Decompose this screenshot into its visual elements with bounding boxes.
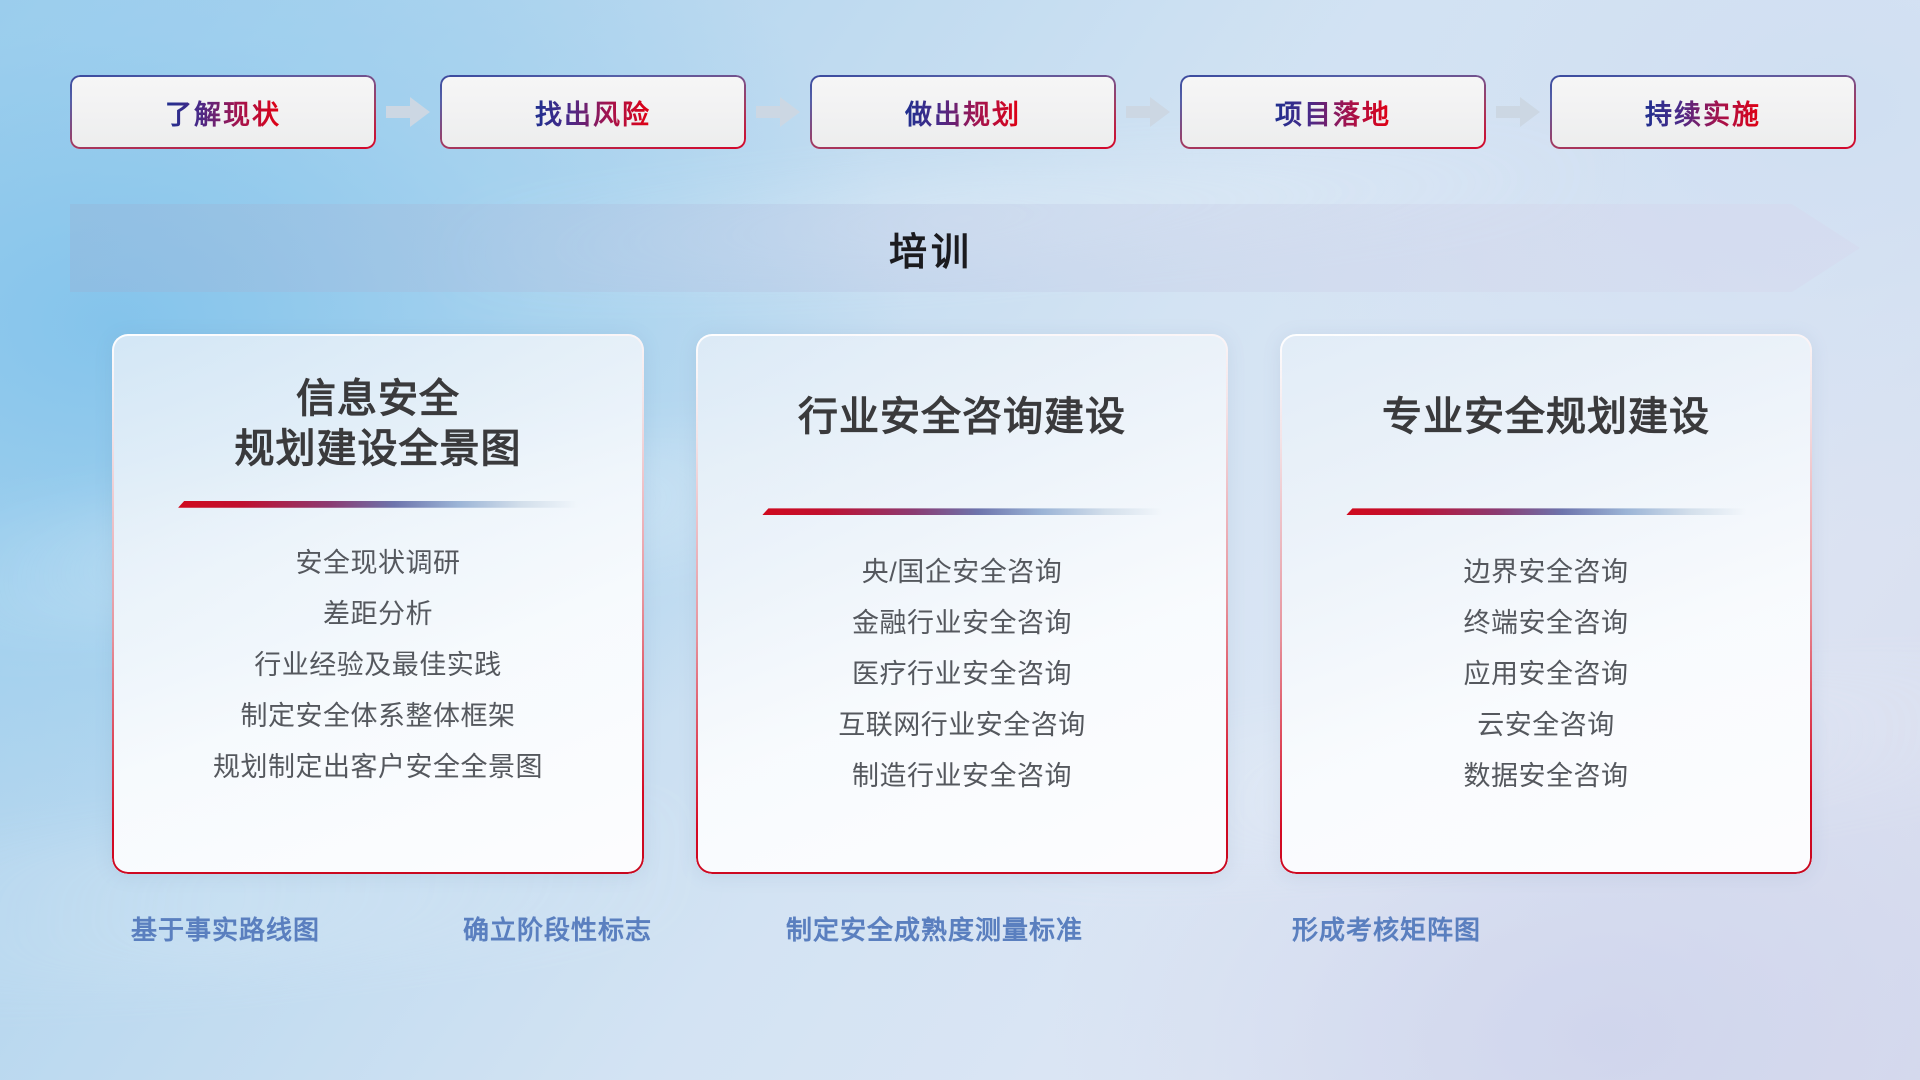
process-steps-bar: 了解现状 找出风险 做出规划 项目落地 (70, 74, 1860, 150)
cards-row: 信息安全 规划建设全景图 安全现状调研 差距分析 行业经验及最佳实践 制定安全体… (112, 334, 1812, 874)
footnote-label: 确立阶段性标志 (463, 910, 652, 947)
list-item: 互联网行业安全咨询 (726, 700, 1198, 751)
card-title: 信息安全 规划建设全景图 (235, 374, 522, 475)
list-item: 终端安全咨询 (1310, 598, 1782, 649)
step-label: 持续实施 (1645, 93, 1761, 132)
card-item-list: 央/国企安全咨询 金融行业安全咨询 医疗行业安全咨询 互联网行业安全咨询 制造行… (726, 547, 1198, 802)
list-item: 行业经验及最佳实践 (142, 640, 614, 691)
footnote-label: 制定安全成熟度测量标准 (786, 910, 1083, 947)
card-divider (178, 501, 578, 508)
list-item: 安全现状调研 (142, 538, 614, 589)
training-band: 培训 (70, 204, 1860, 292)
list-item: 金融行业安全咨询 (726, 598, 1198, 649)
card-information-security-blueprint[interactable]: 信息安全 规划建设全景图 安全现状调研 差距分析 行业经验及最佳实践 制定安全体… (112, 334, 644, 874)
list-item: 制造行业安全咨询 (726, 751, 1198, 802)
footnotes-row: 基于事实路线图 确立阶段性标志 制定安全成熟度测量标准 形成考核矩阵图 (0, 910, 1920, 960)
card-item-list: 边界安全咨询 终端安全咨询 应用安全咨询 云安全咨询 数据安全咨询 (1310, 547, 1782, 802)
list-item: 规划制定出客户安全全景图 (142, 742, 614, 793)
list-item: 医疗行业安全咨询 (726, 649, 1198, 700)
footnote-label: 基于事实路线图 (131, 910, 320, 947)
card-title: 专业安全规划建设 (1382, 392, 1710, 442)
list-item: 边界安全咨询 (1310, 547, 1782, 598)
infographic-canvas: 了解现状 找出风险 做出规划 项目落地 (0, 0, 1920, 1080)
card-divider (762, 508, 1162, 515)
training-band-title: 培训 (70, 204, 1860, 292)
card-industry-security-consulting[interactable]: 行业安全咨询建设 央/国企安全咨询 金融行业安全咨询 医疗行业安全咨询 互联网行… (696, 334, 1228, 874)
step-arrow-icon (1116, 92, 1180, 132)
footnote-label: 形成考核矩阵图 (1292, 910, 1481, 947)
list-item: 应用安全咨询 (1310, 649, 1782, 700)
list-item: 差距分析 (142, 589, 614, 640)
list-item: 央/国企安全咨询 (726, 547, 1198, 598)
card-item-list: 安全现状调研 差距分析 行业经验及最佳实践 制定安全体系整体框架 规划制定出客户… (142, 538, 614, 793)
step-label: 项目落地 (1275, 93, 1391, 132)
list-item: 制定安全体系整体框架 (142, 691, 614, 742)
step-label: 找出风险 (535, 93, 651, 132)
step-chip-1[interactable]: 了解现状 (70, 75, 376, 149)
card-title: 行业安全咨询建设 (798, 392, 1126, 442)
step-label: 了解现状 (165, 93, 281, 132)
card-divider (1346, 508, 1746, 515)
list-item: 数据安全咨询 (1310, 751, 1782, 802)
step-arrow-icon (376, 92, 440, 132)
step-chip-2[interactable]: 找出风险 (440, 75, 746, 149)
card-professional-security-planning[interactable]: 专业安全规划建设 边界安全咨询 终端安全咨询 应用安全咨询 云安全咨询 数据安全… (1280, 334, 1812, 874)
list-item: 云安全咨询 (1310, 700, 1782, 751)
step-chip-4[interactable]: 项目落地 (1180, 75, 1486, 149)
step-label: 做出规划 (905, 93, 1021, 132)
step-arrow-icon (1486, 92, 1550, 132)
step-arrow-icon (746, 92, 810, 132)
step-chip-5[interactable]: 持续实施 (1550, 75, 1856, 149)
step-chip-3[interactable]: 做出规划 (810, 75, 1116, 149)
